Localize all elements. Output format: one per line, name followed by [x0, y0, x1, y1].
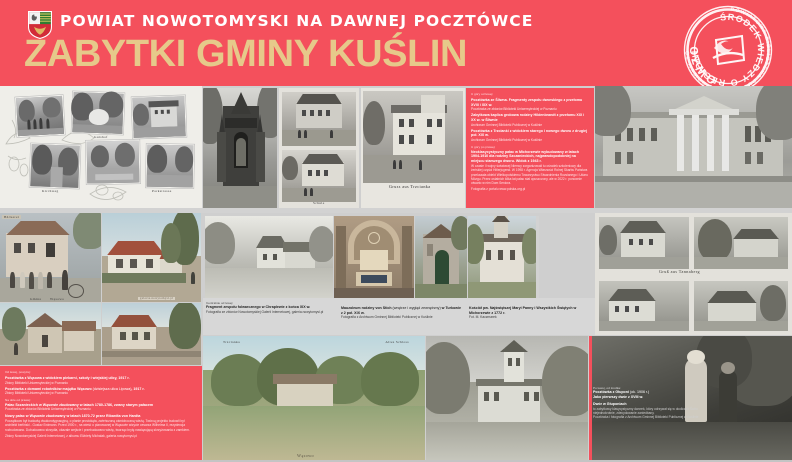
tr-e4-src: Fotografia z portalu www.polska-org.pl	[471, 187, 589, 191]
photo-church-michorzewo	[468, 216, 536, 298]
divider-center-right	[536, 216, 539, 298]
tr-e4-bold: Neoklasycystyczny pałac w Michorzewie wy…	[471, 150, 589, 164]
montage-photo-5	[86, 140, 141, 185]
tr-e3-bold: Pocztówka z Trzcianki z widokiem starego…	[471, 129, 589, 138]
montage-postcard-sliwno: Gutshof Parkstrasse Kirchweg	[0, 86, 202, 208]
montage-photo-1	[15, 95, 65, 137]
text-panel-top-right: U góry od lewej: Pocztówka ze Śliwna. Fr…	[466, 88, 594, 208]
bl-e2-note: (dzisiejsza ulica Lipowa)	[93, 387, 132, 391]
cc-e2-bold-main: Mauzoleum rodziny von Stich	[341, 306, 392, 310]
photo-label-bakery: Bäckerei	[2, 215, 21, 219]
montage-photo-4	[29, 143, 81, 189]
photo-label-wasowo-sm: Wąsowo	[48, 297, 66, 301]
br-e1-bold-main: Pocztówka z Głuponi	[593, 390, 629, 394]
br-e1-note: (ok. 1906 r.)	[630, 390, 649, 394]
photo-label-gmina-sm: Gmina	[28, 297, 43, 301]
montage-label-a: Gutshof	[92, 135, 110, 139]
photo-label-tannaberg: Gruß aus Tannaberg	[657, 269, 702, 274]
photo-multiview-tannaberg: Gruß aus Tannaberg	[595, 213, 792, 335]
bl-e2-bold2: , 1917 r.	[131, 387, 144, 391]
cc-e2-src: Fotografia z Archiwum Gminnej Biblioteki…	[341, 315, 463, 320]
photo-palace-michorzewo	[595, 86, 792, 208]
photo-lane-wasowo	[102, 303, 201, 365]
montage-label-b: Parkstrasse	[150, 189, 174, 193]
photo-barn-wasowo	[0, 303, 101, 365]
photo-label-altes-schloss: Altes Schloss	[383, 340, 411, 344]
montage-label-c: Kirchweg	[40, 189, 61, 193]
photo-chapel-sliwno	[203, 88, 277, 208]
text-panel-bottom-left: Od lewej, powyżej: Pocztówka z Wąsowa z …	[0, 366, 202, 462]
poster-canvas: POWIAT NOWOTOMYSKI NA DAWNEJ POCZTÓWCE Z…	[0, 0, 792, 462]
cc-e3-src: Fot. M. Kaczmarek	[469, 315, 591, 320]
poster-header: POWIAT NOWOTOMYSKI NA DAWNEJ POCZTÓWCE Z…	[0, 0, 792, 86]
photo-credit-galeria: galeria.nowytomysl.pl	[138, 297, 175, 300]
page-title: ZABYTKI GMINY KUŚLIN	[24, 33, 467, 76]
cc-e2-note: (wnętrze i wygląd zewnętrzny)	[393, 306, 441, 310]
photo-postcard-trzcianka: Schule	[279, 88, 359, 208]
photo-bakery-wasowo: Bäckerei Wąsowo Gmina	[0, 213, 101, 302]
cc-e2-bold: Mauzoleum rodziny von Stich (wnętrze i w…	[341, 306, 463, 315]
bl-e4-src: Zbiory Nowotomyskiej Galerii Internetowe…	[5, 434, 197, 438]
photo-panorama-wasowo-old-palace: Trzcianka Altes Schloss Wąsowo	[203, 336, 425, 462]
photo-mausoleum-exterior-turkowo	[415, 216, 467, 298]
photo-label-schule: Schule	[311, 201, 327, 205]
cc-e3-bold: Kościół pw. Najświętszej Maryi Panny i W…	[469, 306, 591, 315]
tr-e2-bold: Zabytkowa kaplica grobowa rodziny Hilden…	[471, 113, 589, 122]
bl-e2-bold-main: Pocztówka z domami robotników majątku Wą…	[5, 387, 92, 391]
photo-folwark-chraplewo	[205, 216, 333, 298]
montage-photo-3	[131, 95, 186, 139]
photo-label-wasowo: Wąsowo	[295, 453, 316, 458]
photo-label-trzcianka-sm: Trzcianka	[221, 340, 242, 344]
photo-mausoleum-interior-turkowo	[334, 216, 414, 298]
montage-photo-2	[71, 91, 124, 135]
round-stamp-icon: POWIATOWA BIBLIOTEKA PUBLICZNA W NOWYM T…	[680, 2, 776, 86]
photo-street-wasowo: galeria.nowytomysl.pl	[102, 213, 201, 302]
photo-gluponie-people: Po lewej, od środka: Pocztówka z Głuponi…	[589, 336, 792, 462]
photo-manor-trzcianka: Gruss aus Trzcianka	[361, 88, 465, 208]
bl-e4-body: Początkowo był budowlą dwukondygnacyjną,…	[5, 419, 197, 432]
photo-new-palace-wasowo	[426, 336, 588, 462]
tr-e1-bold: Pocztówka ze Śliwna. Fragmenty zespołu d…	[471, 98, 589, 107]
tr-e4-body: W czasie II wojny światowej Niemcy zorga…	[471, 164, 589, 186]
header-kicker: POWIAT NOWOTOMYSKI NA DAWNEJ POCZTÓWCE	[60, 12, 533, 30]
photo-label-trzcianka: Gruss aus Trzcianka	[387, 184, 433, 189]
br-e2-src: Pocztówka i fotografia z Archiwum Gminne…	[593, 415, 713, 419]
caption-bar-center: Centralnie od lewej: Fragment zespołu fo…	[203, 298, 595, 335]
cc-e1-src: Fotografia ze zbiorów Nowotomyskiej Gale…	[206, 310, 334, 315]
montage-photo-6	[146, 144, 195, 189]
br-e2-body: to zabytkowy klasycystyczny dworek, któr…	[593, 407, 713, 416]
